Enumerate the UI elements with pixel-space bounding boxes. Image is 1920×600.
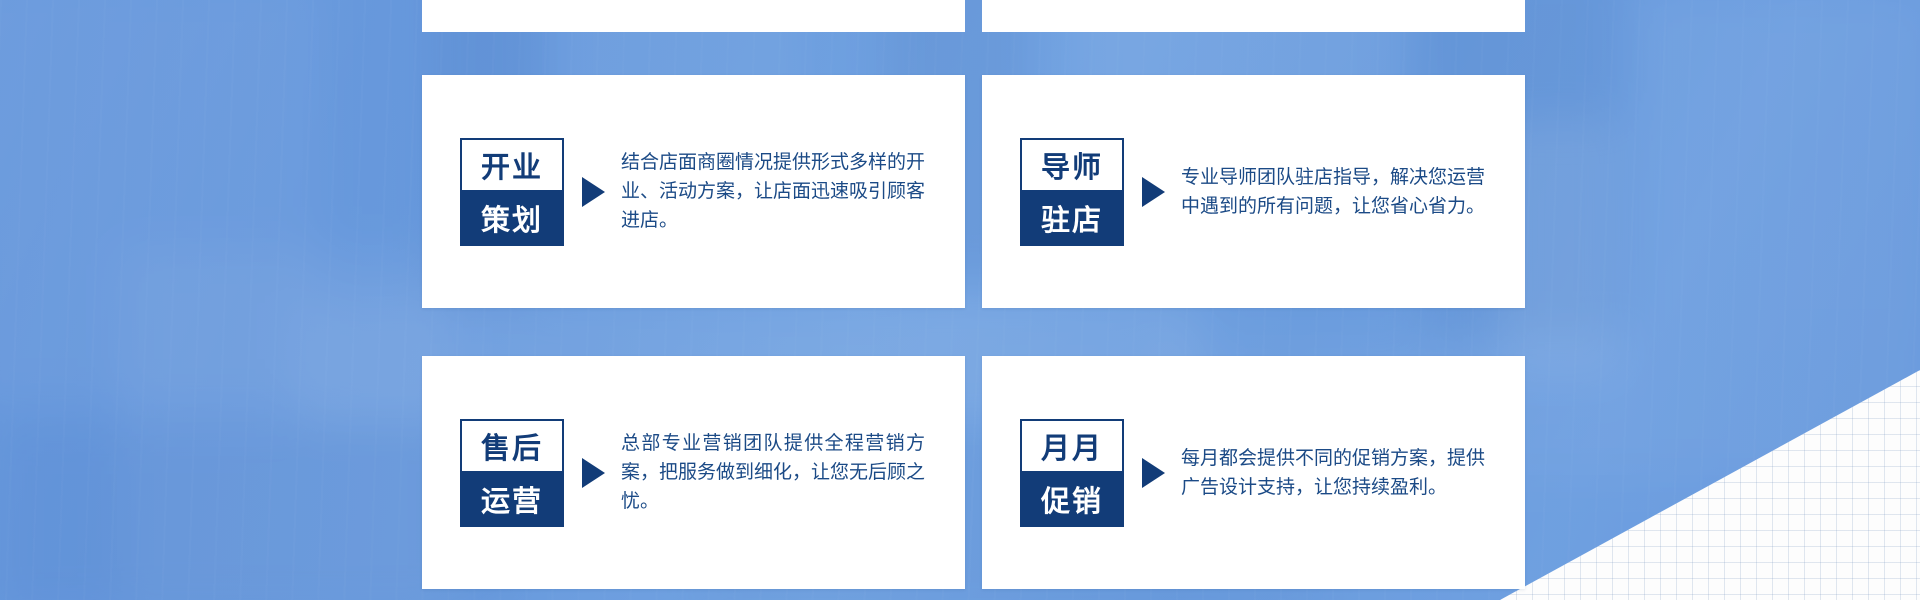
card-description: 每月都会提供不同的促销方案，提供广告设计支持，让您持续盈利。 [1181, 444, 1525, 502]
card-description: 结合店面商圈情况提供形式多样的开业、活动方案，让店面迅速吸引顾客进店。 [621, 148, 965, 235]
play-triangle-icon [582, 177, 605, 207]
badge-mentor-onsite: 导师 驻店 [1020, 138, 1124, 246]
feature-card-aftersales-operation[interactable]: 售后 运营 总部专业营销团队提供全程营销方案，把服务做到细化，让您无后顾之忧。 [422, 356, 965, 589]
badge-top-label: 开业 [460, 138, 564, 190]
feature-card-opening-planning[interactable]: 开业 策划 结合店面商圈情况提供形式多样的开业、活动方案，让店面迅速吸引顾客进店… [422, 75, 965, 308]
partial-card-right [982, 0, 1525, 32]
badge-bottom-label: 促销 [1020, 471, 1124, 527]
badge-top-label: 月月 [1020, 419, 1124, 471]
feature-card-monthly-promotion[interactable]: 月月 促销 每月都会提供不同的促销方案，提供广告设计支持，让您持续盈利。 [982, 356, 1525, 589]
poster-stage: 开业 策划 结合店面商圈情况提供形式多样的开业、活动方案，让店面迅速吸引顾客进店… [0, 0, 1920, 600]
card-description: 专业导师团队驻店指导，解决您运营中遇到的所有问题，让您省心省力。 [1181, 163, 1525, 221]
badge-opening-planning: 开业 策划 [460, 138, 564, 246]
badge-bottom-label: 运营 [460, 471, 564, 527]
feature-card-mentor-onsite[interactable]: 导师 驻店 专业导师团队驻店指导，解决您运营中遇到的所有问题，让您省心省力。 [982, 75, 1525, 308]
badge-top-label: 导师 [1020, 138, 1124, 190]
badge-bottom-label: 驻店 [1020, 190, 1124, 246]
badge-bottom-label: 策划 [460, 190, 564, 246]
badge-monthly-promotion: 月月 促销 [1020, 419, 1124, 527]
play-triangle-icon [1142, 458, 1165, 488]
badge-top-label: 售后 [460, 419, 564, 471]
partial-card-left [422, 0, 965, 32]
card-description: 总部专业营销团队提供全程营销方案，把服务做到细化，让您无后顾之忧。 [621, 429, 965, 516]
play-triangle-icon [582, 458, 605, 488]
play-triangle-icon [1142, 177, 1165, 207]
badge-aftersales-operation: 售后 运营 [460, 419, 564, 527]
